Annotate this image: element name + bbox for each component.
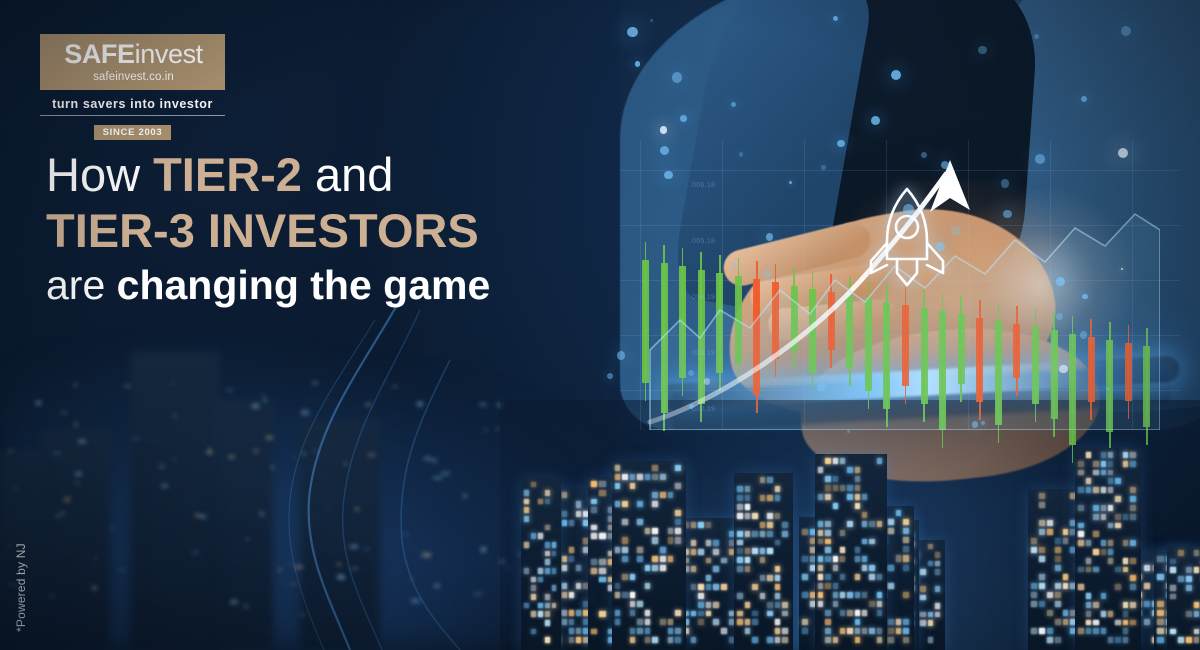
building-window <box>599 559 605 565</box>
building-window <box>538 577 543 583</box>
building-window <box>1101 452 1106 458</box>
building-window <box>818 530 823 536</box>
building-window <box>825 530 830 536</box>
building-window <box>745 495 751 501</box>
building-window <box>1101 540 1106 546</box>
headline: How TIER-2 and TIER-3 INVESTORS are chan… <box>46 150 586 307</box>
powered-by-label: *Powered by NJ <box>14 543 28 632</box>
building-window <box>1093 461 1098 467</box>
building-window <box>737 566 743 572</box>
building-window <box>630 474 636 480</box>
building-window <box>767 575 773 581</box>
building-window <box>645 583 651 589</box>
building-window <box>1130 558 1135 564</box>
building-window <box>775 495 781 501</box>
building-window <box>637 474 643 480</box>
building-window <box>1130 496 1135 502</box>
building-window <box>1101 487 1106 493</box>
building-window <box>775 619 781 625</box>
building-window <box>877 628 882 634</box>
building-window <box>675 628 681 634</box>
building-window <box>1039 493 1045 499</box>
building-window <box>1178 576 1184 582</box>
building-window <box>591 568 597 574</box>
building-window <box>760 477 766 483</box>
building-window <box>833 601 838 607</box>
building-window <box>706 602 712 608</box>
building-window <box>920 620 925 626</box>
building-window <box>869 574 874 580</box>
building-window <box>1157 610 1163 616</box>
building-window <box>545 542 550 548</box>
building-window <box>903 528 909 534</box>
building-window <box>903 565 909 571</box>
building-window <box>840 458 845 464</box>
building-window <box>652 537 658 543</box>
building-window <box>840 610 845 616</box>
building-window <box>698 522 704 528</box>
building-window <box>1078 628 1083 634</box>
building-window <box>1039 520 1045 526</box>
building-window <box>1115 567 1120 573</box>
building-window <box>630 574 636 580</box>
building-window <box>775 575 781 581</box>
building-window <box>576 565 581 571</box>
building-window <box>862 512 867 518</box>
building-window <box>833 565 838 571</box>
building-window <box>1194 602 1200 608</box>
logo-name-bold: SAFE <box>64 39 134 69</box>
building-window <box>591 499 597 505</box>
building-window <box>691 540 697 546</box>
building-window <box>1086 602 1091 608</box>
building-window <box>630 592 636 598</box>
building-window <box>1130 575 1135 581</box>
building-window <box>1055 547 1061 553</box>
building-window <box>675 537 681 543</box>
building-window <box>615 501 621 507</box>
building-window <box>847 467 852 473</box>
building-window <box>775 584 781 590</box>
building-window <box>615 465 621 471</box>
building-window <box>1157 628 1163 634</box>
building-window <box>1086 567 1091 573</box>
building-window <box>1144 619 1150 625</box>
building-window <box>1130 514 1135 520</box>
building-window <box>637 619 643 625</box>
building-window <box>802 592 808 598</box>
headline-text-how: How <box>46 148 153 201</box>
building-window <box>1039 628 1045 634</box>
building-window <box>920 569 925 575</box>
building-window <box>1186 637 1192 643</box>
building-window <box>767 602 773 608</box>
building-window <box>552 585 557 591</box>
building-window <box>622 574 628 580</box>
building-window <box>840 574 845 580</box>
building-window <box>1101 514 1106 520</box>
building-window <box>645 610 651 616</box>
building-window <box>698 602 704 608</box>
building-window <box>818 467 823 473</box>
building-window <box>775 486 781 492</box>
building-window <box>545 594 550 600</box>
building-window <box>591 525 597 531</box>
building-window <box>637 628 643 634</box>
building-window <box>775 513 781 519</box>
building-window <box>760 557 766 563</box>
building-window <box>599 611 605 617</box>
building-window <box>1078 487 1083 493</box>
building-window <box>1115 514 1120 520</box>
building-window <box>1130 540 1135 546</box>
building-window <box>818 556 823 562</box>
building-window <box>752 637 758 643</box>
building-window <box>1047 529 1053 535</box>
building-window <box>903 537 909 543</box>
building-window <box>737 495 743 501</box>
building-window <box>691 566 697 572</box>
building-window <box>825 556 830 562</box>
building-window <box>825 628 830 634</box>
building-window <box>1101 628 1106 634</box>
building-window <box>767 522 773 528</box>
building-window <box>622 501 628 507</box>
building-window <box>637 556 643 562</box>
building-window <box>1123 620 1128 626</box>
building-window <box>1123 514 1128 520</box>
building-window <box>903 519 909 525</box>
building-window <box>802 529 808 535</box>
building-window <box>591 507 597 513</box>
building-window <box>847 485 852 491</box>
building-window <box>660 619 666 625</box>
building-window <box>562 565 567 571</box>
building-window <box>737 540 743 546</box>
building-window <box>1115 637 1120 643</box>
building-window <box>1157 619 1163 625</box>
building-window <box>1157 637 1163 643</box>
building-window <box>1055 583 1061 589</box>
building-window <box>896 619 902 625</box>
building-window <box>660 474 666 480</box>
building-window <box>855 485 860 491</box>
building-window <box>591 629 597 635</box>
building-window <box>745 531 751 537</box>
building-window <box>713 602 719 608</box>
building-window <box>545 603 550 609</box>
building-window <box>1101 611 1106 617</box>
building-window <box>840 547 845 553</box>
building-window <box>935 612 940 618</box>
building-window <box>698 619 704 625</box>
building-window <box>1130 461 1135 467</box>
building-window <box>630 610 636 616</box>
building-window <box>1055 556 1061 562</box>
building-window <box>825 476 830 482</box>
building-window <box>745 486 751 492</box>
building-window <box>652 528 658 534</box>
building-window <box>752 548 758 554</box>
building-window <box>713 619 719 625</box>
building-window <box>652 492 658 498</box>
building-window <box>775 566 781 572</box>
building-window <box>877 521 882 527</box>
building-window <box>1055 565 1061 571</box>
building-window <box>524 568 529 574</box>
building-window <box>1047 610 1053 616</box>
building-window <box>840 556 845 562</box>
building-window <box>645 628 651 634</box>
building-window <box>524 507 529 513</box>
building-window <box>622 592 628 598</box>
building-window <box>1194 629 1200 635</box>
building-window <box>825 547 830 553</box>
building-window <box>877 574 882 580</box>
building-window <box>825 637 830 643</box>
building-window <box>1108 487 1113 493</box>
building-window <box>877 601 882 607</box>
building-window <box>675 510 681 516</box>
building-window <box>1055 619 1061 625</box>
building-window <box>576 610 581 616</box>
building-window <box>903 619 909 625</box>
building-window <box>1093 620 1098 626</box>
building-window <box>818 539 823 545</box>
building-window <box>668 528 674 534</box>
building-window <box>825 539 830 545</box>
building-window <box>591 481 597 487</box>
building-window <box>737 557 743 563</box>
building-window <box>855 628 860 634</box>
building-window <box>562 556 567 562</box>
headline-line-1: How TIER-2 and <box>46 150 586 200</box>
building-window <box>1078 505 1083 511</box>
building-window <box>767 495 773 501</box>
building-window <box>706 584 712 590</box>
building-window <box>1123 461 1128 467</box>
building-window <box>737 513 743 519</box>
building-window <box>1093 505 1098 511</box>
building-window <box>935 569 940 575</box>
building-window <box>888 619 894 625</box>
building-window <box>745 619 751 625</box>
since-badge: SINCE 2003 <box>94 125 172 140</box>
building-window <box>1115 584 1120 590</box>
building-window <box>1157 574 1163 580</box>
building-window <box>818 601 823 607</box>
building-window <box>562 610 567 616</box>
building-window <box>1078 461 1083 467</box>
building-window <box>524 603 529 609</box>
building <box>734 473 793 650</box>
building-window <box>775 593 781 599</box>
headline-accent-tier2: TIER-2 <box>153 148 302 201</box>
building-window <box>782 531 788 537</box>
building-window <box>737 593 743 599</box>
building-window <box>668 637 674 643</box>
building-window <box>862 521 867 527</box>
building-window <box>524 490 529 496</box>
building-window <box>833 503 838 509</box>
building-window <box>569 520 574 526</box>
building-window <box>615 547 621 553</box>
building-window <box>660 565 666 571</box>
building-window <box>760 531 766 537</box>
building <box>815 454 887 650</box>
building-window <box>833 485 838 491</box>
building-window <box>1130 620 1135 626</box>
building-window <box>1123 637 1128 643</box>
building-window <box>869 539 874 545</box>
building-window <box>545 620 550 626</box>
building-window <box>818 521 823 527</box>
building-window <box>1108 611 1113 617</box>
building-window <box>1108 452 1113 458</box>
building-window <box>652 556 658 562</box>
building-window <box>847 521 852 527</box>
building-window <box>1108 637 1113 643</box>
building-window <box>1144 565 1150 571</box>
building-window <box>569 637 574 643</box>
building-window <box>1039 556 1045 562</box>
building-window <box>928 544 933 550</box>
building-window <box>1093 602 1098 608</box>
building-window <box>855 503 860 509</box>
building-window <box>1130 602 1135 608</box>
building-window <box>1078 567 1083 573</box>
building-window <box>569 556 574 562</box>
building-window <box>1039 529 1045 535</box>
building-window <box>752 619 758 625</box>
building-window <box>1170 594 1176 600</box>
building-window <box>1115 478 1120 484</box>
building-window <box>562 511 567 517</box>
building-window <box>660 492 666 498</box>
brand-tagline: turn savers into investor <box>40 97 225 116</box>
building-window <box>713 549 719 555</box>
since-badge-wrap: SINCE 2003 <box>40 122 225 140</box>
building-window <box>767 531 773 537</box>
building-window <box>545 568 550 574</box>
brand-logo[interactable]: SAFEinvest safeinvest.co.in turn savers … <box>40 34 225 140</box>
text-content-area: SAFEinvest safeinvest.co.in turn savers … <box>0 0 600 650</box>
building-window <box>637 601 643 607</box>
building-window <box>855 556 860 562</box>
building-window <box>1063 619 1069 625</box>
logo-wordmark: SAFEinvest <box>52 41 215 68</box>
building-window <box>1055 538 1061 544</box>
building-window <box>840 485 845 491</box>
building-window <box>855 494 860 500</box>
building-window <box>1108 540 1113 546</box>
building-window <box>545 637 550 643</box>
building-window <box>1170 629 1176 635</box>
building-window <box>562 619 567 625</box>
building-window <box>1157 556 1163 562</box>
building-window <box>706 575 712 581</box>
building-window <box>903 555 909 561</box>
building-window <box>1123 611 1128 617</box>
building-window <box>545 525 550 531</box>
building-window <box>1093 567 1098 573</box>
building-window <box>935 552 940 558</box>
building-window <box>721 628 727 634</box>
building-window <box>767 513 773 519</box>
building-window <box>737 619 743 625</box>
logo-name-light: invest <box>135 39 203 69</box>
building-window <box>767 611 773 617</box>
building-window <box>1123 558 1128 564</box>
building-window <box>855 610 860 616</box>
building-window <box>545 551 550 557</box>
building-window <box>1086 628 1091 634</box>
building-window <box>1170 585 1176 591</box>
building-window <box>652 637 658 643</box>
building-window <box>862 539 867 545</box>
building-window <box>668 619 674 625</box>
building-window <box>545 490 550 496</box>
building-window <box>721 584 727 590</box>
building-window <box>888 583 894 589</box>
building-window <box>888 628 894 634</box>
building-window <box>862 628 867 634</box>
building-window <box>552 551 557 557</box>
building <box>1075 448 1140 650</box>
building-window <box>630 483 636 489</box>
building-window <box>668 492 674 498</box>
building-window <box>935 603 940 609</box>
building-window <box>855 574 860 580</box>
building-window <box>903 637 909 643</box>
building-window <box>1031 628 1037 634</box>
building-window <box>531 482 536 488</box>
building-window <box>775 628 781 634</box>
building-window <box>818 574 823 580</box>
building-window <box>1086 452 1091 458</box>
headline-accent-tier3-investors: TIER-3 INVESTORS <box>46 204 479 257</box>
building-window <box>1093 531 1098 537</box>
building-window <box>888 637 894 643</box>
building-window <box>896 510 902 516</box>
building-window <box>1186 567 1192 573</box>
building-window <box>675 483 681 489</box>
logo-box: SAFEinvest safeinvest.co.in <box>40 34 225 90</box>
building-window <box>652 565 658 571</box>
building-window <box>760 522 766 528</box>
building-window <box>877 610 882 616</box>
building-window <box>1086 620 1091 626</box>
building-window <box>782 602 788 608</box>
building-window <box>745 557 751 563</box>
building-window <box>855 547 860 553</box>
building-window <box>622 537 628 543</box>
building-window <box>552 603 557 609</box>
building-window <box>869 628 874 634</box>
building-window <box>691 637 697 643</box>
building-window <box>524 499 529 505</box>
building-window <box>1093 628 1098 634</box>
building-window <box>782 628 788 634</box>
building-window <box>1123 628 1128 634</box>
building-window <box>840 628 845 634</box>
building-window <box>576 511 581 517</box>
building-window <box>1031 547 1037 553</box>
building-window <box>691 522 697 528</box>
building-window <box>1123 567 1128 573</box>
building-window <box>538 499 543 505</box>
building-window <box>1194 637 1200 643</box>
